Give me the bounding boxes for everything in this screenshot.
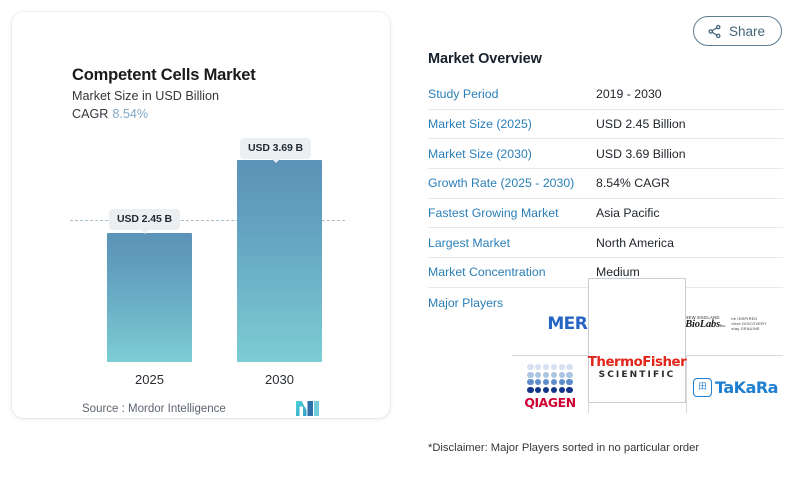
- x-tick-2030: 2030: [237, 372, 322, 387]
- screenshot-root: Competent Cells Market Market Size in US…: [0, 0, 800, 482]
- qiagen-dot-grid: [527, 364, 572, 394]
- row-key: Study Period: [428, 87, 596, 101]
- row-value: North America: [596, 236, 674, 250]
- row-key: Fastest Growing Market: [428, 206, 596, 220]
- share-nodes-icon: [707, 24, 722, 39]
- logo-takara: 田 TaKaRa: [688, 362, 783, 412]
- row-key: Market Size (2030): [428, 147, 596, 161]
- chart-card: Competent Cells Market Market Size in US…: [12, 12, 390, 418]
- row-value: Asia Pacific: [596, 206, 660, 220]
- neb-tagline: be INSPIRED drive DISCOVERY stay GENUINE: [731, 316, 766, 332]
- table-row: Study Period 2019 - 2030: [428, 80, 783, 110]
- thermofisher-sub-text: SCIENTIFIC: [599, 371, 676, 380]
- row-value: USD 2.45 Billion: [596, 117, 686, 131]
- neb-tag-3: stay GENUINE: [731, 326, 766, 331]
- table-row: Growth Rate (2025 - 2030) 8.54% CAGR: [428, 169, 783, 199]
- row-value: 2019 - 2030: [596, 87, 662, 101]
- row-value: USD 3.69 Billion: [596, 147, 686, 161]
- row-key: Market Concentration: [428, 265, 596, 279]
- mordor-intelligence-logo: [295, 398, 321, 418]
- share-button[interactable]: Share: [693, 16, 782, 46]
- neb-wordmark: NEW ENGLAND BioLabsInc.: [685, 316, 726, 331]
- table-row: Market Size (2030) USD 3.69 Billion: [428, 139, 783, 169]
- bar-2025: [107, 233, 192, 362]
- row-key: Largest Market: [428, 236, 596, 250]
- page-title: Market Overview: [428, 51, 542, 67]
- table-row: Market Size (2025) USD 2.45 Billion: [428, 110, 783, 140]
- logo-qiagen: QIAGEN: [512, 362, 588, 412]
- market-overview-panel: Share Market Overview Study Period 2019 …: [410, 0, 800, 482]
- neb-main-line: BioLabsInc.: [685, 320, 726, 331]
- share-button-label: Share: [729, 24, 765, 39]
- row-value: 8.54% CAGR: [596, 176, 670, 190]
- table-row: Largest Market North America: [428, 228, 783, 258]
- x-tick-2025: 2025: [107, 372, 192, 387]
- thermofisher-logo-text: ThermoFisher: [588, 356, 686, 369]
- major-players-logo-grid: MERCK NEW ENGLAND BioLabsInc. be INSPIR: [512, 288, 783, 413]
- bar-label-2025: USD 2.45 B: [109, 209, 180, 230]
- takara-seal-icon: 田: [693, 378, 712, 397]
- qiagen-lockup: QIAGEN: [524, 364, 575, 411]
- table-row: Fastest Growing Market Asia Pacific: [428, 199, 783, 229]
- bar-2030: [237, 160, 322, 362]
- takara-logo-text: TaKaRa: [715, 378, 778, 397]
- takara-lockup: 田 TaKaRa: [693, 378, 778, 397]
- bar-chart-plot: USD 2.45 B USD 3.69 B 2025 2030: [12, 12, 390, 418]
- source-text: Source : Mordor Intelligence: [82, 403, 226, 415]
- bar-label-2030: USD 3.69 B: [240, 138, 311, 159]
- logo-thermo-fisher: ThermoFisher SCIENTIFIC: [588, 278, 686, 403]
- row-key: Growth Rate (2025 - 2030): [428, 176, 596, 190]
- disclaimer-text: *Disclaimer: Major Players sorted in no …: [428, 442, 699, 454]
- row-key: Market Size (2025): [428, 117, 596, 131]
- qiagen-logo-text: QIAGEN: [524, 395, 575, 410]
